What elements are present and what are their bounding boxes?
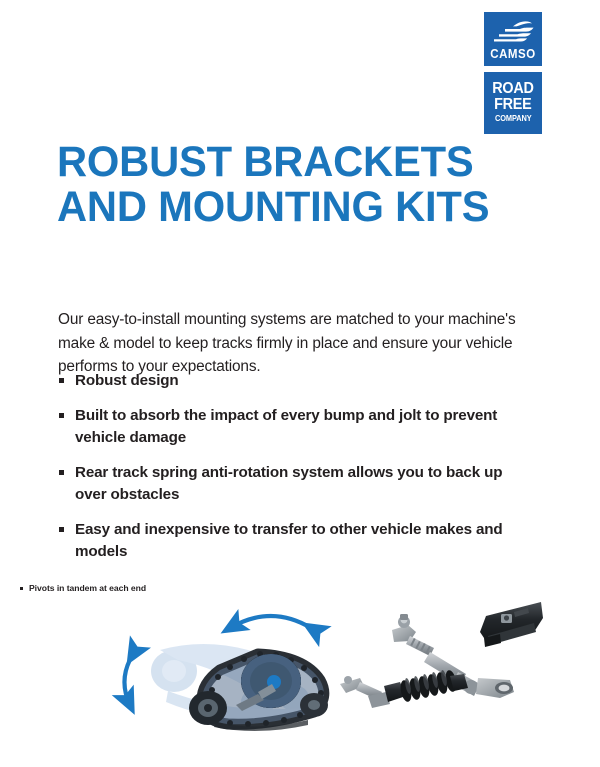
camso-logo: CAMSO: [484, 12, 542, 66]
list-item-label: Built to absorb the impact of every bump…: [75, 407, 497, 446]
camso-swoosh-icon: [491, 19, 535, 45]
brand-stack: CAMSO ROAD FREE COMPANY: [484, 12, 542, 134]
product-sheet-page: CAMSO ROAD FREE COMPANY ROBUST BRACKETS …: [0, 0, 600, 767]
bracket-hardware-photo: [338, 592, 543, 722]
list-item-label: Easy and inexpensive to transfer to othe…: [75, 521, 503, 560]
badge-line-road: ROAD: [492, 81, 533, 97]
square-bullet-icon: [59, 413, 64, 418]
list-item: Easy and inexpensive to transfer to othe…: [58, 519, 528, 563]
vertical-double-arrow-icon: [124, 656, 132, 705]
square-bullet-icon: [20, 587, 23, 590]
square-bullet-icon: [59, 378, 64, 383]
square-bullet-icon: [59, 527, 64, 532]
list-item: Rear track spring anti-rotation system a…: [58, 462, 528, 506]
page-title-line-1: ROBUST BRACKETS: [57, 140, 484, 185]
list-item: Built to absorb the impact of every bump…: [58, 405, 528, 449]
camso-wordmark: CAMSO: [486, 48, 539, 61]
footnote: Pivots in tandem at each end: [20, 583, 146, 594]
horizontal-double-arrow-icon: [230, 616, 311, 628]
footnote-label: Pivots in tandem at each end: [29, 583, 146, 593]
list-item-label: Robust design: [75, 372, 179, 389]
badge-line-company: COMPANY: [495, 113, 531, 125]
page-title: ROBUST BRACKETS AND MOUNTING KITS: [57, 140, 497, 230]
page-title-line-2: AND MOUNTING KITS: [57, 185, 484, 230]
coil-spring-damper: [340, 669, 468, 708]
road-free-company-badge: ROAD FREE COMPANY: [484, 72, 542, 134]
mounting-rail-bracket: [480, 602, 543, 647]
feature-list: Robust design Built to absorb the impact…: [58, 370, 528, 576]
square-bullet-icon: [59, 470, 64, 475]
badge-line-free: FREE: [494, 97, 531, 113]
list-item-label: Rear track spring anti-rotation system a…: [75, 464, 502, 503]
intro-paragraph: Our easy-to-install mounting systems are…: [58, 308, 528, 379]
rubber-track-pivot-diagram: [108, 598, 348, 733]
list-item: Robust design: [58, 370, 528, 392]
